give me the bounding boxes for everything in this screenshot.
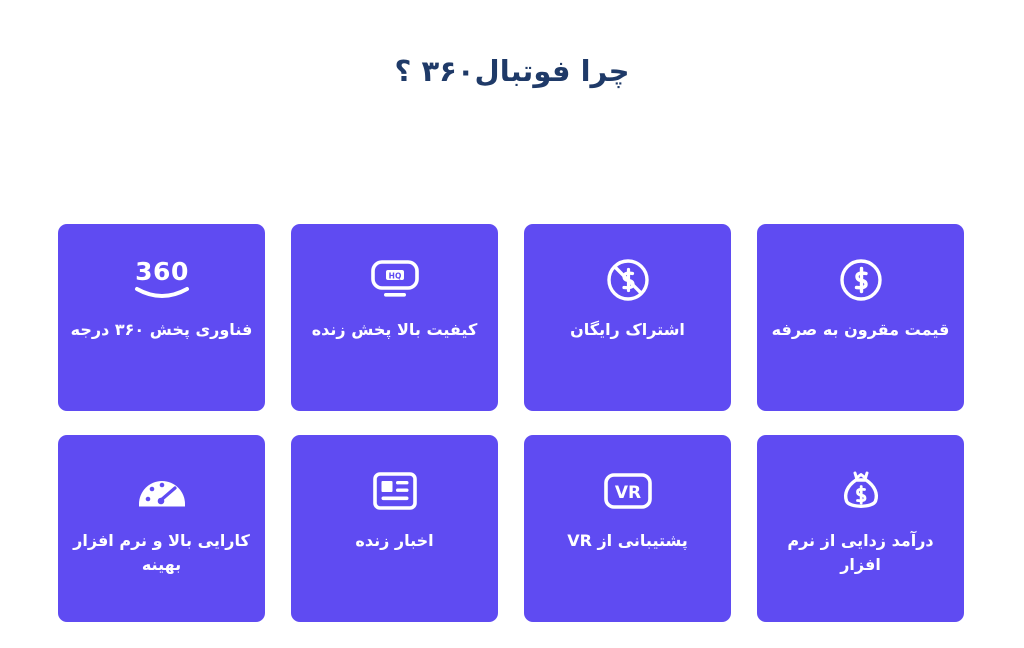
feature-card-360-technology[interactable]: 360 فناوری پخش ۳۶۰ درجه [58,224,265,411]
feature-card-label: درآمد زدایی از نرم افزار [757,529,964,577]
feature-card-label: اشتراک رایگان [524,318,731,342]
feature-card-label: کارایی بالا و نرم افزار بهینه [58,529,265,577]
money-bag-icon [757,461,964,521]
feature-card-label: کیفیت بالا پخش زنده [291,318,498,342]
feature-card-high-performance[interactable]: کارایی بالا و نرم افزار بهینه [58,435,265,622]
news-article-icon [291,461,498,521]
speedometer-icon [58,461,265,521]
dollar-circle-icon [757,250,964,310]
360-degree-icon: 360 [58,250,265,310]
feature-card-label: اخبار زنده [291,529,498,553]
hq-monitor-icon: HQ [291,250,498,310]
vr-badge-icon: VR [524,461,731,521]
feature-card-software-monetization[interactable]: درآمد زدایی از نرم افزار [757,435,964,622]
why-football360-section: چرا فوتبال۳۶۰ ؟ 360 فناوری پخش ۳۶۰ درجه … [0,0,1024,648]
svg-text:VR: VR [614,483,640,503]
page-title: چرا فوتبال۳۶۰ ؟ [0,53,1024,91]
feature-card-affordable-price[interactable]: قیمت مقرون به صرفه [757,224,964,411]
feature-card-hq-live-quality[interactable]: HQ کیفیت بالا پخش زنده [291,224,498,411]
no-cost-dollar-icon [524,250,731,310]
feature-card-live-news[interactable]: اخبار زنده [291,435,498,622]
svg-text:HQ: HQ [388,271,401,280]
features-grid: 360 فناوری پخش ۳۶۰ درجه HQ کیفیت بالا پخ… [58,224,964,622]
feature-card-label: قیمت مقرون به صرفه [757,318,964,342]
feature-card-free-subscription[interactable]: اشتراک رایگان [524,224,731,411]
feature-card-label: فناوری پخش ۳۶۰ درجه [58,318,265,342]
svg-text:360: 360 [135,258,189,286]
feature-card-label: پشتیبانی از VR [524,529,731,553]
feature-card-vr-support[interactable]: VR پشتیبانی از VR [524,435,731,622]
